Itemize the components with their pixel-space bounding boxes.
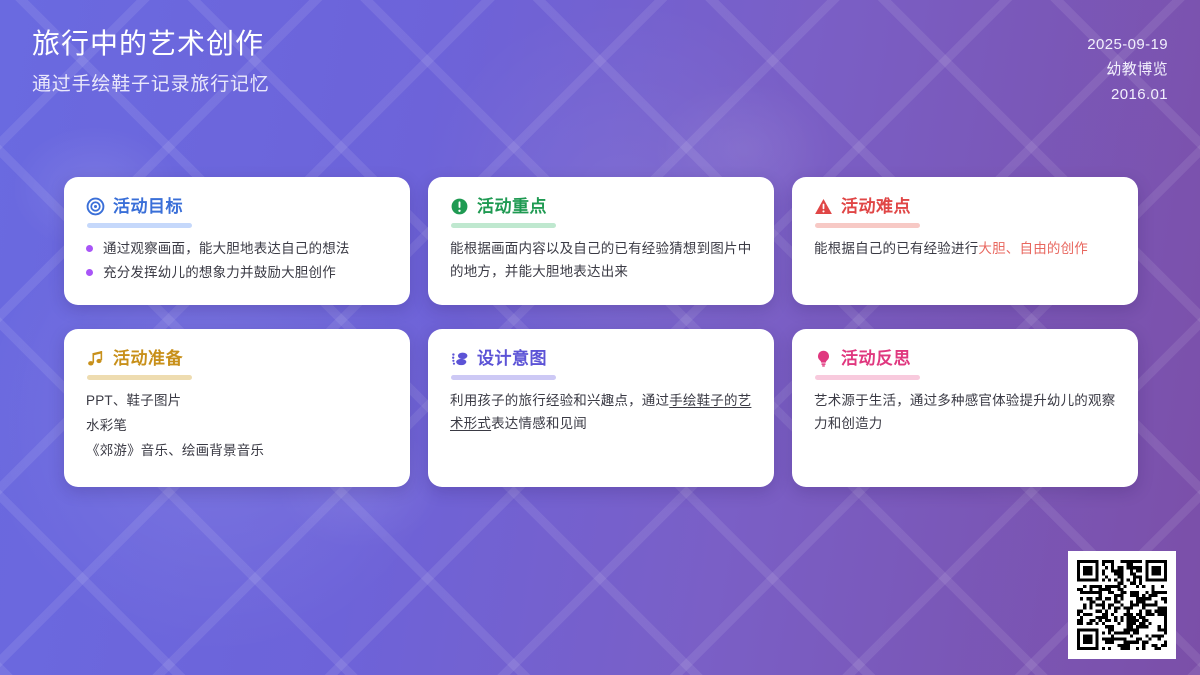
qr-code-image [1077, 560, 1167, 650]
card-header: 活动重点 [450, 197, 752, 216]
exclamation-circle-icon [450, 197, 469, 216]
card-title: 活动难点 [841, 198, 911, 215]
slide-canvas: 旅行中的艺术创作 通过手绘鞋子记录旅行记忆 2025-09-19 幼教博览 20… [0, 0, 1200, 675]
card-4: 活动准备PPT、鞋子图片水彩笔《郊游》音乐、绘画背景音乐 [64, 329, 410, 487]
text-segment: 能根据自己的已有经验进行 [814, 241, 978, 256]
card-header: 活动难点 [814, 197, 1116, 216]
card-body: 能根据自己的已有经验进行大胆、自由的创作 [814, 237, 1116, 260]
music-note-icon [86, 349, 105, 368]
title-block: 旅行中的艺术创作 通过手绘鞋子记录旅行记忆 [32, 26, 270, 98]
card-header: 活动反思 [814, 349, 1116, 368]
list-item: 通过观察画面，能大胆地表达自己的想法 [86, 237, 388, 261]
card-header: 活动目标 [86, 197, 388, 216]
lightbulb-icon [814, 349, 833, 368]
card-title: 活动目标 [113, 198, 183, 215]
prep-line: 《郊游》音乐、绘画背景音乐 [86, 439, 388, 464]
card-title-underline [87, 223, 192, 228]
prep-line: PPT、鞋子图片 [86, 389, 388, 414]
prep-line: 水彩笔 [86, 414, 388, 439]
card-title-underline [815, 223, 920, 228]
card-paragraph: 艺术源于生活，通过多种感官体验提升幼儿的观察力和创造力 [814, 389, 1116, 435]
list-item: 充分发挥幼儿的想象力并鼓励大胆创作 [86, 261, 388, 285]
card-1: 活动目标通过观察画面，能大胆地表达自己的想法充分发挥幼儿的想象力并鼓励大胆创作 [64, 177, 410, 305]
page-title: 旅行中的艺术创作 [32, 26, 270, 62]
slide-header: 旅行中的艺术创作 通过手绘鞋子记录旅行记忆 2025-09-19 幼教博览 20… [0, 0, 1200, 150]
card-body: PPT、鞋子图片水彩笔《郊游》音乐、绘画背景音乐 [86, 389, 388, 464]
card-title-underline [451, 375, 556, 380]
qr-code[interactable] [1068, 551, 1176, 659]
bullet-list: 通过观察画面，能大胆地表达自己的想法充分发挥幼儿的想象力并鼓励大胆创作 [86, 237, 388, 285]
meta-issue: 2016.01 [1087, 83, 1168, 108]
card-title-underline [815, 375, 920, 380]
card-body: 艺术源于生活，通过多种感官体验提升幼儿的观察力和创造力 [814, 389, 1116, 435]
warning-triangle-icon [814, 197, 833, 216]
card-body: 能根据画面内容以及自己的已有经验猜想到图片中的地方，并能大胆地表达出来 [450, 237, 752, 283]
card-title: 活动反思 [841, 350, 911, 367]
text-segment: 利用孩子的旅行经验和兴趣点，通过 [450, 393, 669, 408]
card-6: 活动反思艺术源于生活，通过多种感官体验提升幼儿的观察力和创造力 [792, 329, 1138, 487]
text-segment: 表达情感和见闻 [491, 416, 587, 431]
card-2: 活动重点能根据画面内容以及自己的已有经验猜想到图片中的地方，并能大胆地表达出来 [428, 177, 774, 305]
footprints-icon [450, 349, 469, 368]
card-header: 设计意图 [450, 349, 752, 368]
text-segment: 大胆、自由的创作 [978, 241, 1088, 256]
card-title-underline [451, 223, 556, 228]
card-5: 设计意图利用孩子的旅行经验和兴趣点，通过手绘鞋子的艺术形式表达情感和见闻 [428, 329, 774, 487]
page-subtitle: 通过手绘鞋子记录旅行记忆 [32, 72, 270, 98]
card-paragraph: 能根据自己的已有经验进行大胆、自由的创作 [814, 237, 1116, 260]
card-paragraph: 能根据画面内容以及自己的已有经验猜想到图片中的地方，并能大胆地表达出来 [450, 237, 752, 283]
card-title: 设计意图 [477, 350, 547, 367]
card-body: 通过观察画面，能大胆地表达自己的想法充分发挥幼儿的想象力并鼓励大胆创作 [86, 237, 388, 285]
card-3: 活动难点能根据自己的已有经验进行大胆、自由的创作 [792, 177, 1138, 305]
card-title: 活动重点 [477, 198, 547, 215]
card-title: 活动准备 [113, 350, 183, 367]
meta-source: 幼教博览 [1087, 58, 1168, 83]
card-body: 利用孩子的旅行经验和兴趣点，通过手绘鞋子的艺术形式表达情感和见闻 [450, 389, 752, 435]
card-grid: 活动目标通过观察画面，能大胆地表达自己的想法充分发挥幼儿的想象力并鼓励大胆创作活… [64, 177, 1136, 487]
target-icon [86, 197, 105, 216]
meta-date: 2025-09-19 [1087, 33, 1168, 58]
header-meta: 2025-09-19 幼教博览 2016.01 [1087, 33, 1168, 107]
card-header: 活动准备 [86, 349, 388, 368]
card-title-underline [87, 375, 192, 380]
card-paragraph: 利用孩子的旅行经验和兴趣点，通过手绘鞋子的艺术形式表达情感和见闻 [450, 389, 752, 435]
